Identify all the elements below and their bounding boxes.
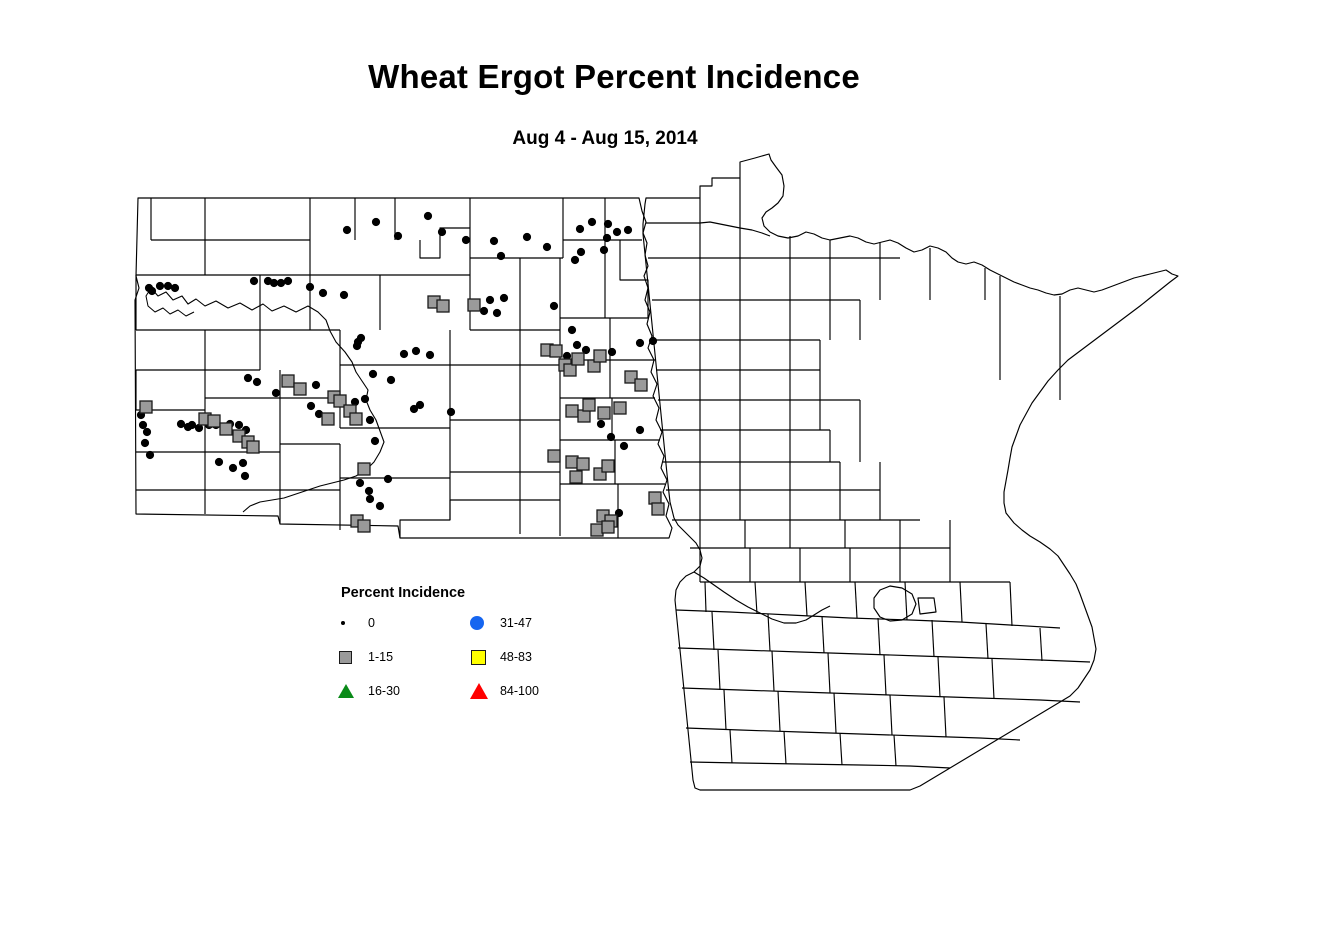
incidence-marker-0 xyxy=(272,389,280,397)
incidence-marker-0 xyxy=(369,370,377,378)
incidence-marker-0 xyxy=(353,342,361,350)
incidence-marker-0 xyxy=(366,416,374,424)
incidence-marker-0 xyxy=(253,378,261,386)
incidence-marker-0 xyxy=(270,279,278,287)
incidence-marker-0 xyxy=(171,284,179,292)
legend-title: Percent Incidence xyxy=(341,585,598,601)
incidence-marker-0 xyxy=(607,433,615,441)
state-county-map xyxy=(0,0,1341,926)
incidence-marker-1-15 xyxy=(322,413,334,425)
incidence-marker-1-15 xyxy=(602,460,614,472)
incidence-marker-0 xyxy=(371,437,379,445)
incidence-marker-0 xyxy=(608,348,616,356)
incidence-marker-1-15 xyxy=(577,458,589,470)
legend-label-0: 0 xyxy=(368,616,375,630)
incidence-marker-1-15 xyxy=(350,413,362,425)
incidence-marker-0 xyxy=(139,421,147,429)
incidence-marker-1-15 xyxy=(635,379,647,391)
incidence-marker-0 xyxy=(356,479,364,487)
legend-item-84-100[interactable]: 84-100 xyxy=(470,683,539,699)
legend-item-0[interactable]: 0 xyxy=(338,615,400,631)
incidence-marker-0 xyxy=(577,248,585,256)
incidence-marker-0 xyxy=(620,442,628,450)
incidence-marker-0 xyxy=(550,302,558,310)
incidence-marker-0 xyxy=(376,502,384,510)
incidence-marker-0 xyxy=(143,428,151,436)
incidence-marker-1-15 xyxy=(282,375,294,387)
incidence-marker-0 xyxy=(340,291,348,299)
legend-label-48-83: 48-83 xyxy=(500,650,532,664)
incidence-marker-0 xyxy=(372,218,380,226)
green-triangle-marker-icon xyxy=(338,684,362,698)
incidence-marker-0 xyxy=(416,401,424,409)
incidence-marker-0 xyxy=(523,233,531,241)
incidence-marker-0 xyxy=(438,228,446,236)
blue-circle-marker-icon xyxy=(470,616,494,630)
incidence-marker-0 xyxy=(426,351,434,359)
incidence-marker-0 xyxy=(600,246,608,254)
incidence-marker-0 xyxy=(462,236,470,244)
incidence-marker-1-15 xyxy=(614,402,626,414)
incidence-marker-0 xyxy=(624,226,632,234)
incidence-marker-0 xyxy=(576,225,584,233)
incidence-marker-0 xyxy=(636,339,644,347)
incidence-marker-0 xyxy=(343,226,351,234)
dot-marker-icon xyxy=(338,621,362,625)
incidence-marker-0 xyxy=(486,296,494,304)
incidence-marker-0 xyxy=(312,381,320,389)
incidence-marker-0 xyxy=(543,243,551,251)
incidence-marker-0 xyxy=(603,234,611,242)
incidence-marker-0 xyxy=(229,464,237,472)
legend-item-31-47[interactable]: 31-47 xyxy=(470,615,539,631)
incidence-marker-1-15 xyxy=(566,405,578,417)
incidence-marker-0 xyxy=(164,282,172,290)
incidence-marker-1-15 xyxy=(566,456,578,468)
legend-label-1-15: 1-15 xyxy=(368,650,393,664)
incidence-marker-0 xyxy=(387,376,395,384)
incidence-marker-0 xyxy=(250,277,258,285)
incidence-marker-0 xyxy=(447,408,455,416)
incidence-marker-0 xyxy=(597,420,605,428)
incidence-marker-0 xyxy=(306,283,314,291)
incidence-marker-1-15 xyxy=(358,463,370,475)
incidence-marker-0 xyxy=(493,309,501,317)
incidence-marker-0 xyxy=(235,421,243,429)
incidence-marker-0 xyxy=(497,252,505,260)
incidence-marker-1-15 xyxy=(220,423,232,435)
incidence-marker-1-15 xyxy=(358,520,370,532)
map-page: Wheat Ergot Percent Incidence Aug 4 - Au… xyxy=(0,0,1341,926)
legend-item-1-15[interactable]: 1-15 xyxy=(338,649,400,665)
incidence-marker-0 xyxy=(177,420,185,428)
incidence-marker-0 xyxy=(365,487,373,495)
legend-column-right: 31-47 48-83 84-100 xyxy=(470,615,539,699)
incidence-marker-0 xyxy=(361,395,369,403)
legend-item-16-30[interactable]: 16-30 xyxy=(338,683,400,699)
incidence-marker-0 xyxy=(366,495,374,503)
incidence-marker-0 xyxy=(588,218,596,226)
incidence-marker-1-15 xyxy=(583,399,595,411)
incidence-marker-1-15 xyxy=(437,300,449,312)
incidence-marker-0 xyxy=(241,472,249,480)
legend-column-left: 0 1-15 16-30 xyxy=(338,615,400,699)
incidence-marker-0 xyxy=(148,287,156,295)
incidence-marker-1-15 xyxy=(572,353,584,365)
incidence-marker-1-15 xyxy=(578,410,590,422)
incidence-marker-1-15 xyxy=(564,364,576,376)
incidence-marker-1-15 xyxy=(594,350,606,362)
incidence-marker-0 xyxy=(277,279,285,287)
incidence-marker-0 xyxy=(141,439,149,447)
incidence-marker-0 xyxy=(636,426,644,434)
incidence-marker-0 xyxy=(568,326,576,334)
incidence-markers-1-15 xyxy=(140,296,664,536)
incidence-marker-0 xyxy=(394,232,402,240)
incidence-marker-0 xyxy=(319,289,327,297)
incidence-marker-0 xyxy=(613,228,621,236)
incidence-marker-1-15 xyxy=(247,441,259,453)
incidence-marker-1-15 xyxy=(652,503,664,515)
incidence-marker-0 xyxy=(424,212,432,220)
gray-square-marker-icon xyxy=(338,651,362,664)
incidence-marker-0 xyxy=(146,451,154,459)
map-canvas xyxy=(0,0,1341,926)
incidence-marker-1-15 xyxy=(649,492,661,504)
incidence-marker-0 xyxy=(500,294,508,302)
incidence-marker-0 xyxy=(384,475,392,483)
incidence-marker-0 xyxy=(604,220,612,228)
incidence-marker-0 xyxy=(400,350,408,358)
incidence-marker-1-15 xyxy=(602,521,614,533)
incidence-marker-0 xyxy=(284,277,292,285)
incidence-marker-0 xyxy=(490,237,498,245)
incidence-marker-0 xyxy=(480,307,488,315)
incidence-marker-0 xyxy=(244,374,252,382)
incidence-marker-0 xyxy=(215,458,223,466)
incidence-marker-1-15 xyxy=(468,299,480,311)
incidence-marker-1-15 xyxy=(598,407,610,419)
legend-label-16-30: 16-30 xyxy=(368,684,400,698)
incidence-marker-1-15 xyxy=(294,383,306,395)
incidence-marker-0 xyxy=(412,347,420,355)
legend-item-48-83[interactable]: 48-83 xyxy=(470,649,539,665)
incidence-marker-0 xyxy=(156,282,164,290)
minnesota-counties xyxy=(643,154,1178,790)
legend-label-84-100: 84-100 xyxy=(500,684,539,698)
incidence-marker-0 xyxy=(307,402,315,410)
incidence-marker-0 xyxy=(239,459,247,467)
incidence-marker-0 xyxy=(188,421,196,429)
yellow-square-marker-icon xyxy=(470,650,494,665)
incidence-marker-1-15 xyxy=(548,450,560,462)
incidence-marker-0 xyxy=(571,256,579,264)
red-triangle-marker-icon xyxy=(470,683,494,699)
incidence-marker-1-15 xyxy=(140,401,152,413)
map-legend: Percent Incidence 0 1-15 16-30 xyxy=(338,585,598,699)
incidence-marker-0 xyxy=(573,341,581,349)
incidence-marker-1-15 xyxy=(208,415,220,427)
incidence-marker-0 xyxy=(649,337,657,345)
incidence-marker-1-15 xyxy=(570,471,582,483)
legend-label-31-47: 31-47 xyxy=(500,616,532,630)
incidence-marker-1-15 xyxy=(591,524,603,536)
incidence-marker-1-15 xyxy=(550,345,562,357)
